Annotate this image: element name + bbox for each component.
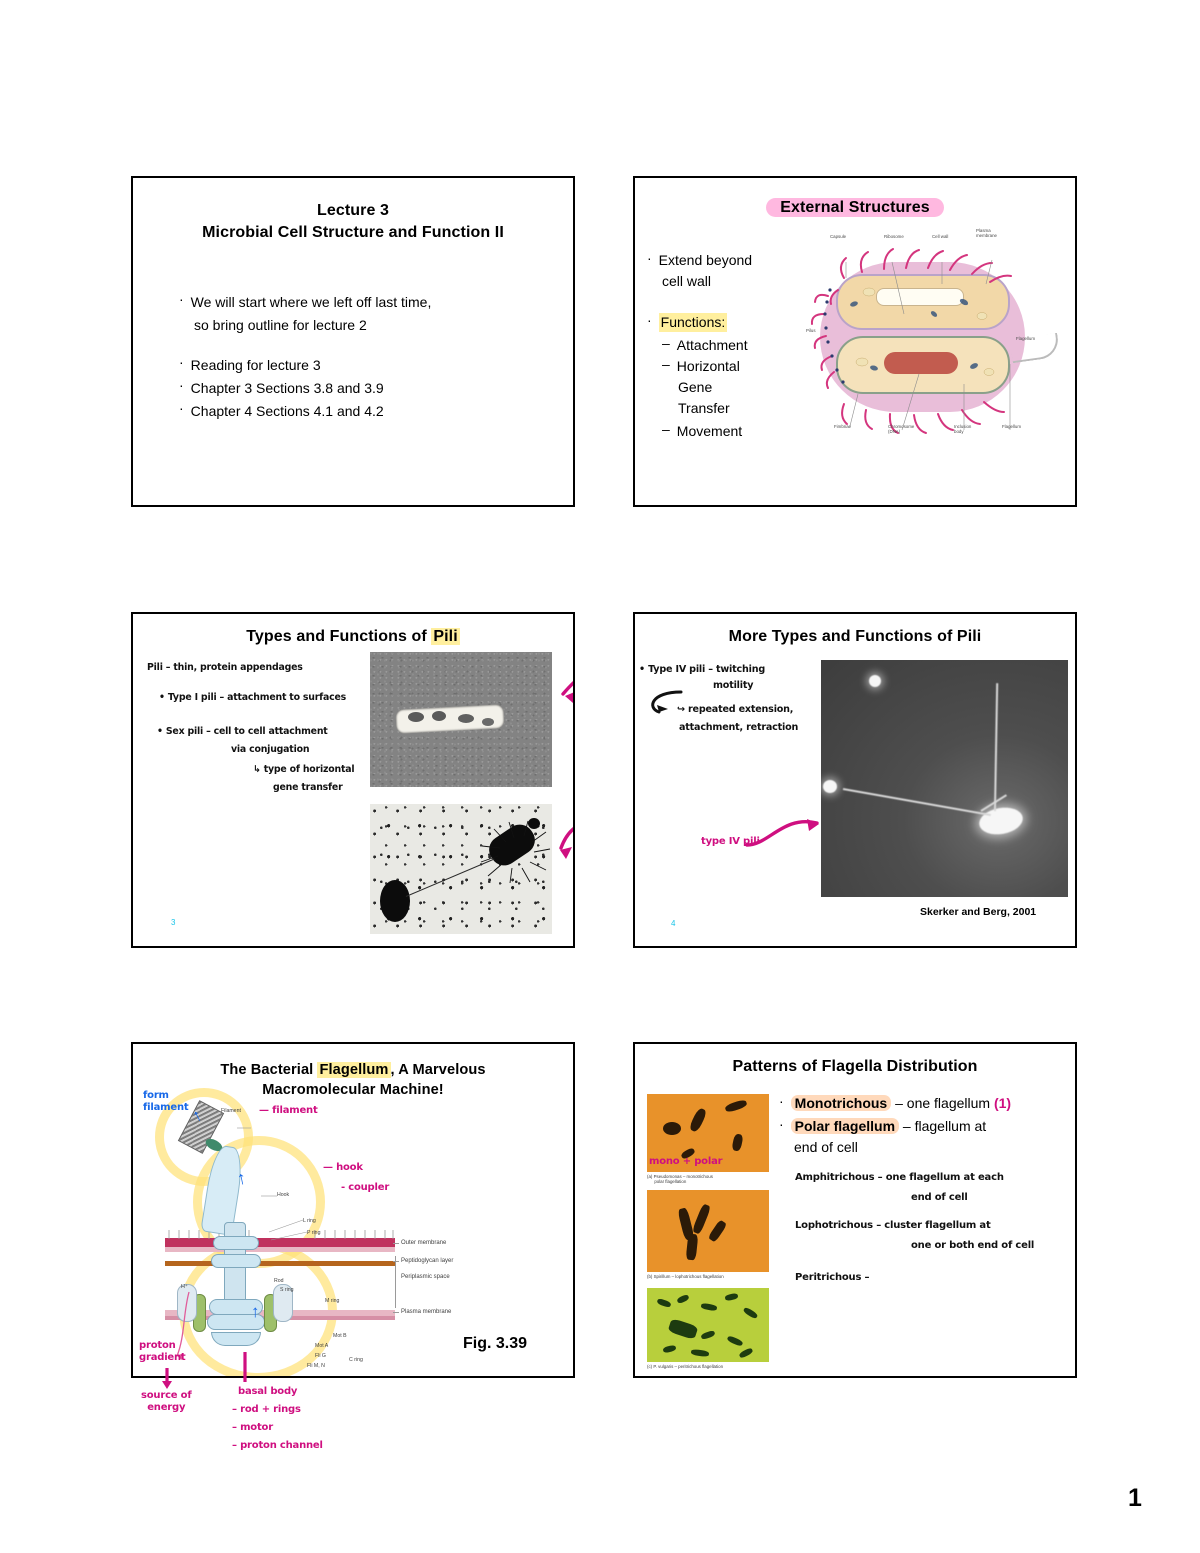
photo-lophotrichous	[647, 1190, 769, 1272]
bullet-dot: ·	[647, 251, 652, 265]
slide-types-functions-pili: Types and Functions of Pili Pili – thin,…	[131, 612, 575, 948]
figure-label-proton: H⁺	[181, 1284, 188, 1290]
figure-label: Flagellum	[1016, 336, 1035, 341]
slide2-bullet-list: · Extend beyond cell wall · Functions: –…	[647, 251, 807, 443]
pink-line-basalbody	[238, 1352, 252, 1384]
slide6-bullet-list: · Monotrichous – one flagellum (1) · Pol…	[779, 1094, 1069, 1159]
dash-dot: –	[662, 336, 670, 350]
cell	[731, 1133, 743, 1151]
figure-label: P ring	[307, 1230, 320, 1236]
figure-label: S ring	[280, 1287, 294, 1293]
flagellum-figure: H⁺ ↑ ↑ ↑ Filament Hook L ring P ring Rod…	[133, 1044, 573, 1376]
leader-tick	[393, 1243, 399, 1244]
photo-peritrichous	[647, 1288, 769, 1362]
cell	[724, 1099, 747, 1113]
bacterium-cell-small	[869, 675, 881, 687]
figure-label: Fli G	[315, 1353, 326, 1359]
bullet-text-functions: Functions:	[659, 313, 728, 332]
definition-polar-flagellum: – flagellum at	[899, 1118, 986, 1134]
list-item: – Horizontal	[647, 357, 807, 376]
figure-label: Flagellum	[1002, 424, 1021, 429]
list-item: · Polar flagellum – flagellum at	[779, 1117, 1069, 1136]
figure-label: Fimbriae	[834, 424, 851, 429]
list-item: so bring outline for lecture 2	[179, 315, 539, 336]
bullet-dot: ·	[179, 401, 184, 415]
slide-external-structures: External Structures · Extend beyond cell…	[633, 176, 1077, 507]
list-item: cell wall	[647, 272, 807, 291]
list-item: · Chapter 3 Sections 3.8 and 3.9	[179, 378, 539, 399]
definition-polar-flagellum-line2: end of cell	[794, 1138, 858, 1157]
handwritten-note-line: • Type I pili – attachment to surfaces	[159, 692, 346, 703]
bullet-text: Reading for lecture 3	[191, 355, 321, 376]
handwritten-note-line: attachment, retraction	[679, 722, 798, 733]
bullet-text: We will start where we left off last tim…	[191, 292, 432, 313]
figure-label: Rod	[274, 1278, 284, 1284]
slide-number: 3	[171, 918, 175, 927]
cell-detail	[458, 714, 474, 723]
list-item: Gene	[647, 378, 807, 397]
blue-arrow-basalbody: ↑	[251, 1302, 260, 1322]
bacterium-cell	[380, 880, 410, 922]
cell	[708, 1219, 728, 1242]
subbullet-text: Gene	[678, 378, 712, 397]
annotation-source-of-energy: source of energy	[141, 1390, 192, 1414]
slide-number: 4	[671, 919, 675, 928]
slide-flagella-distribution: Patterns of Flagella Distribution (a) Ps…	[633, 1042, 1077, 1378]
handwritten-note-line: Peritrichous –	[795, 1272, 869, 1284]
leader-tick	[393, 1261, 399, 1262]
figure-credit: Skerker and Berg, 2001	[920, 906, 1036, 918]
figure-label: Inclusion body	[954, 424, 971, 434]
subbullet-text: Attachment	[677, 336, 748, 355]
cell	[662, 1345, 676, 1354]
page-title: Patterns of Flagella Distribution	[635, 1058, 1075, 1076]
figure-label: Ribosome	[884, 234, 904, 239]
cell	[656, 1298, 671, 1308]
figure-label: C ring	[349, 1357, 363, 1363]
figure-label: Plasma membrane	[976, 228, 997, 238]
subbullet-text: Transfer	[678, 399, 730, 418]
cell	[688, 1107, 708, 1133]
list-item: · Reading for lecture 3	[179, 355, 539, 376]
slide2-title-wrap: External Structures	[635, 199, 1075, 217]
cell	[700, 1330, 715, 1340]
slide1-bullet-list: · We will start where we left off last t…	[179, 292, 539, 424]
slide1-title-line2: Microbial Cell Structure and Function II	[133, 222, 573, 244]
cell	[726, 1335, 743, 1347]
figure-label: Plasma membrane	[401, 1309, 451, 1316]
definition-monotrichous: – one flagellum	[891, 1095, 994, 1111]
figure-label: Capsule	[830, 234, 846, 239]
term-polar-flagellum: Polar flagellum	[791, 1118, 899, 1134]
cell	[663, 1122, 681, 1135]
annotation-proton-gradient: proton gradient	[139, 1340, 186, 1364]
leader-tick	[393, 1312, 399, 1313]
figure-label: Filament	[221, 1108, 241, 1114]
figure-label: Outer membrane	[401, 1240, 446, 1247]
handwritten-note-line: end of cell	[911, 1192, 968, 1204]
leader-bracket	[395, 1256, 396, 1308]
bacterial-cell-diagram: Capsule Ribosome Cell wall Plasma membra…	[820, 240, 1025, 440]
photo-caption: (c) P. vulgaris – peritrichous flagellat…	[647, 1364, 723, 1369]
pili-fimbriae-group	[814, 244, 1029, 439]
cell	[691, 1349, 710, 1357]
cell	[676, 1294, 689, 1305]
pilus-filament	[994, 683, 999, 811]
subbullet-text: Movement	[677, 422, 742, 441]
dash-dot: –	[662, 422, 670, 436]
list-item: · Functions:	[647, 313, 807, 332]
bullet-dot: ·	[179, 355, 184, 369]
pink-arrow-sexpili	[531, 814, 575, 872]
handwritten-note-line: • Type IV pili – twitching	[639, 664, 765, 675]
photo-caption: (b) Spirillum – lophotrichous flagellati…	[647, 1274, 724, 1279]
figure-caption: Fig. 3.39	[463, 1335, 527, 1353]
annotation-filament: — filament	[259, 1105, 318, 1117]
bullet-dot: ·	[779, 1117, 784, 1131]
list-item: · Chapter 4 Sections 4.1 and 4.2	[179, 401, 539, 422]
handwritten-note-line: via conjugation	[231, 744, 309, 755]
bullet-text: Chapter 4 Sections 4.1 and 4.2	[191, 401, 384, 422]
bullet-text: cell wall	[662, 272, 711, 291]
cell	[686, 1234, 699, 1261]
P-ring	[211, 1254, 261, 1268]
figure-label: Fli M, N	[307, 1363, 325, 1369]
cell-detail	[432, 711, 446, 721]
dash-dot: –	[662, 357, 670, 371]
figure-label: Pilus	[806, 328, 816, 333]
annotation-hook: — hook	[323, 1162, 363, 1174]
cell	[725, 1293, 739, 1302]
cell-detail	[482, 718, 494, 726]
annotation-form-filament: form filament	[143, 1090, 188, 1114]
slide-more-types-pili: More Types and Functions of Pili • Type …	[633, 612, 1077, 948]
list-item: – Attachment	[647, 336, 807, 355]
annotation-proton-channel: – proton channel	[232, 1440, 323, 1452]
pink-down-arrow-energy	[160, 1368, 174, 1390]
annotation-ecoli-type1-pili: e-coli w/ type I pili	[573, 706, 575, 739]
pink-arrow-type4	[741, 809, 851, 857]
bullet-dot: ·	[779, 1094, 784, 1108]
figure-label: Mot A	[315, 1343, 328, 1349]
handwritten-note-line: ↪ repeated extension,	[677, 704, 793, 715]
handwritten-note-line: ↳ type of horizontal	[253, 764, 354, 775]
bacterium-cell-small	[823, 780, 837, 793]
title-highlight-pili: Pili	[431, 628, 459, 645]
list-item: end of cell	[779, 1138, 1069, 1157]
page-title: Types and Functions of	[246, 628, 431, 645]
slide3-title-wrap: Types and Functions of Pili	[133, 628, 573, 646]
micrograph-type1-pili	[370, 652, 552, 787]
annotation-type4-pili: type IV pili	[701, 836, 760, 848]
annotation-coupler: - coupler	[341, 1182, 389, 1194]
bullet-dot: ·	[179, 378, 184, 392]
subbullet-text: Horizontal	[677, 357, 740, 376]
term-monotrichous: Monotrichous	[791, 1095, 892, 1111]
page-title: External Structures	[766, 198, 944, 217]
pink-arrow-type1	[543, 666, 575, 714]
bullet-text: Chapter 3 Sections 3.8 and 3.9	[191, 378, 384, 399]
list-item: · Extend beyond	[647, 251, 807, 270]
page-number: 1	[1128, 1484, 1142, 1513]
handout-page: Lecture 3 Microbial Cell Structure and F…	[0, 0, 1200, 1553]
handwritten-note-line: one or both end of cell	[911, 1240, 1034, 1252]
bullet-dot: ·	[647, 313, 652, 327]
bullet-dot: ·	[179, 292, 184, 306]
slide1-title-line1: Lecture 3	[133, 200, 573, 222]
list-item: · We will start where we left off last t…	[179, 292, 539, 313]
figure-label: Chromosome (DNA)	[888, 424, 914, 434]
figure-label: Peptidoglycan layer	[401, 1258, 453, 1265]
photo-caption: (a) Pseudomonas – monotrichous polar fla…	[647, 1174, 713, 1185]
handwritten-note-line: Lophotrichous – cluster flagellum at	[795, 1220, 991, 1232]
handwritten-note-line: motility	[713, 680, 753, 691]
figure-label: Periplasmic space	[401, 1274, 450, 1281]
annotation-motor: – motor	[232, 1422, 273, 1434]
page-title: More Types and Functions of Pili	[635, 628, 1075, 646]
annotation-mono-polar: mono + polar	[649, 1156, 722, 1168]
cell	[743, 1306, 759, 1319]
list-item: – Movement	[647, 422, 807, 441]
handwritten-note-line: Pili – thin, protein appendages	[147, 662, 303, 673]
micrograph-type4-pili	[821, 660, 1068, 897]
figure-label: Cell wall	[932, 234, 948, 239]
figure-leader-lines	[237, 1124, 307, 1254]
list-item: · Monotrichous – one flagellum (1)	[779, 1094, 1069, 1113]
peptidoglycan-layer	[165, 1261, 395, 1266]
handwritten-note-line: Amphitrichous – one flagellum at each	[795, 1172, 1004, 1184]
handwritten-note-line: • Sex pili – cell to cell attachment	[157, 726, 328, 737]
annotation-count-one: (1)	[994, 1095, 1011, 1111]
cell	[738, 1347, 753, 1359]
cell-detail	[408, 712, 424, 722]
pilus-filament	[843, 788, 991, 816]
annotation-rod-rings: – rod + rings	[232, 1404, 301, 1416]
cell	[692, 1203, 712, 1234]
cell-cluster	[668, 1318, 699, 1340]
figure-label: Mot B	[333, 1333, 347, 1339]
micrograph-sex-pili	[370, 804, 552, 934]
bullet-text: Extend beyond	[659, 251, 752, 270]
slide-lecture-title: Lecture 3 Microbial Cell Structure and F…	[131, 176, 575, 507]
list-item: Transfer	[647, 399, 807, 418]
bullet-text: so bring outline for lecture 2	[194, 315, 367, 336]
figure-label: M ring	[325, 1298, 339, 1304]
cell	[701, 1303, 718, 1312]
slide-bacterial-flagellum: The Bacterial Flagellum, A Marvelous Mac…	[131, 1042, 575, 1378]
annotation-basal-body: basal body	[238, 1386, 297, 1398]
handwritten-note-line: gene transfer	[273, 782, 343, 793]
handwritten-curve-arrow	[645, 688, 687, 720]
